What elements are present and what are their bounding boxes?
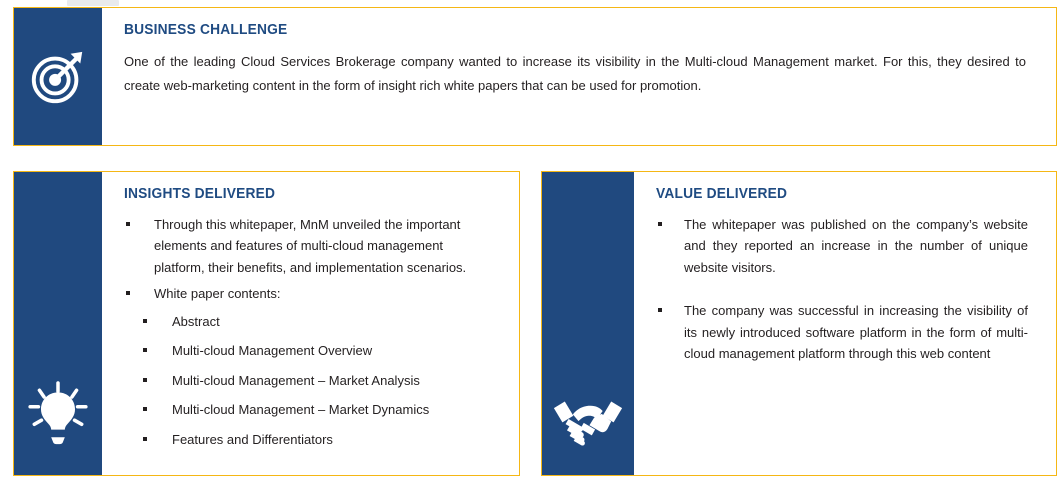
list-item: Abstract (124, 311, 495, 332)
insights-delivered-icon-block (14, 172, 102, 475)
insights-delivered-heading: INSIGHTS DELIVERED (124, 186, 476, 202)
list-item: Through this whitepaper, MnM unveiled th… (124, 214, 495, 278)
business-challenge-heading: BUSINESS CHALLENGE (124, 22, 987, 38)
business-challenge-body: BUSINESS CHALLENGE One of the leading Cl… (102, 8, 1056, 145)
insights-delivered-body: INSIGHTS DELIVERED Through this whitepap… (102, 172, 519, 475)
list-item: Features and Differentiators (124, 429, 495, 450)
value-delivered-heading: VALUE DELIVERED (656, 186, 1013, 202)
business-challenge-panel: BUSINESS CHALLENGE One of the leading Cl… (13, 7, 1057, 146)
list-item: The whitepaper was published on the comp… (656, 214, 1032, 278)
value-delivered-icon-block (542, 172, 634, 475)
list-item: White paper contents: (124, 283, 495, 304)
list-item: Multi-cloud Management Overview (124, 340, 495, 361)
lightbulb-icon (25, 381, 91, 447)
list-item: Multi-cloud Management – Market Dynamics (124, 399, 495, 420)
target-arrow-icon (27, 46, 89, 108)
insights-delivered-bullet-list: Through this whitepaper, MnM unveiled th… (124, 214, 495, 305)
business-challenge-paragraph: One of the leading Cloud Services Broker… (124, 50, 1032, 98)
insights-delivered-panel: INSIGHTS DELIVERED Through this whitepap… (13, 171, 520, 476)
business-challenge-icon-block (14, 8, 102, 145)
top-edge-artifact (67, 0, 119, 6)
value-delivered-bullet-list: The whitepaper was published on the comp… (656, 214, 1032, 365)
list-item: Multi-cloud Management – Market Analysis (124, 370, 495, 391)
list-item: The company was successful in increasing… (656, 300, 1032, 364)
white-paper-contents-list: Abstract Multi-cloud Management Overview… (124, 311, 495, 450)
handshake-icon (552, 391, 624, 449)
value-delivered-body: VALUE DELIVERED The whitepaper was publi… (634, 172, 1056, 475)
value-delivered-panel: VALUE DELIVERED The whitepaper was publi… (541, 171, 1057, 476)
